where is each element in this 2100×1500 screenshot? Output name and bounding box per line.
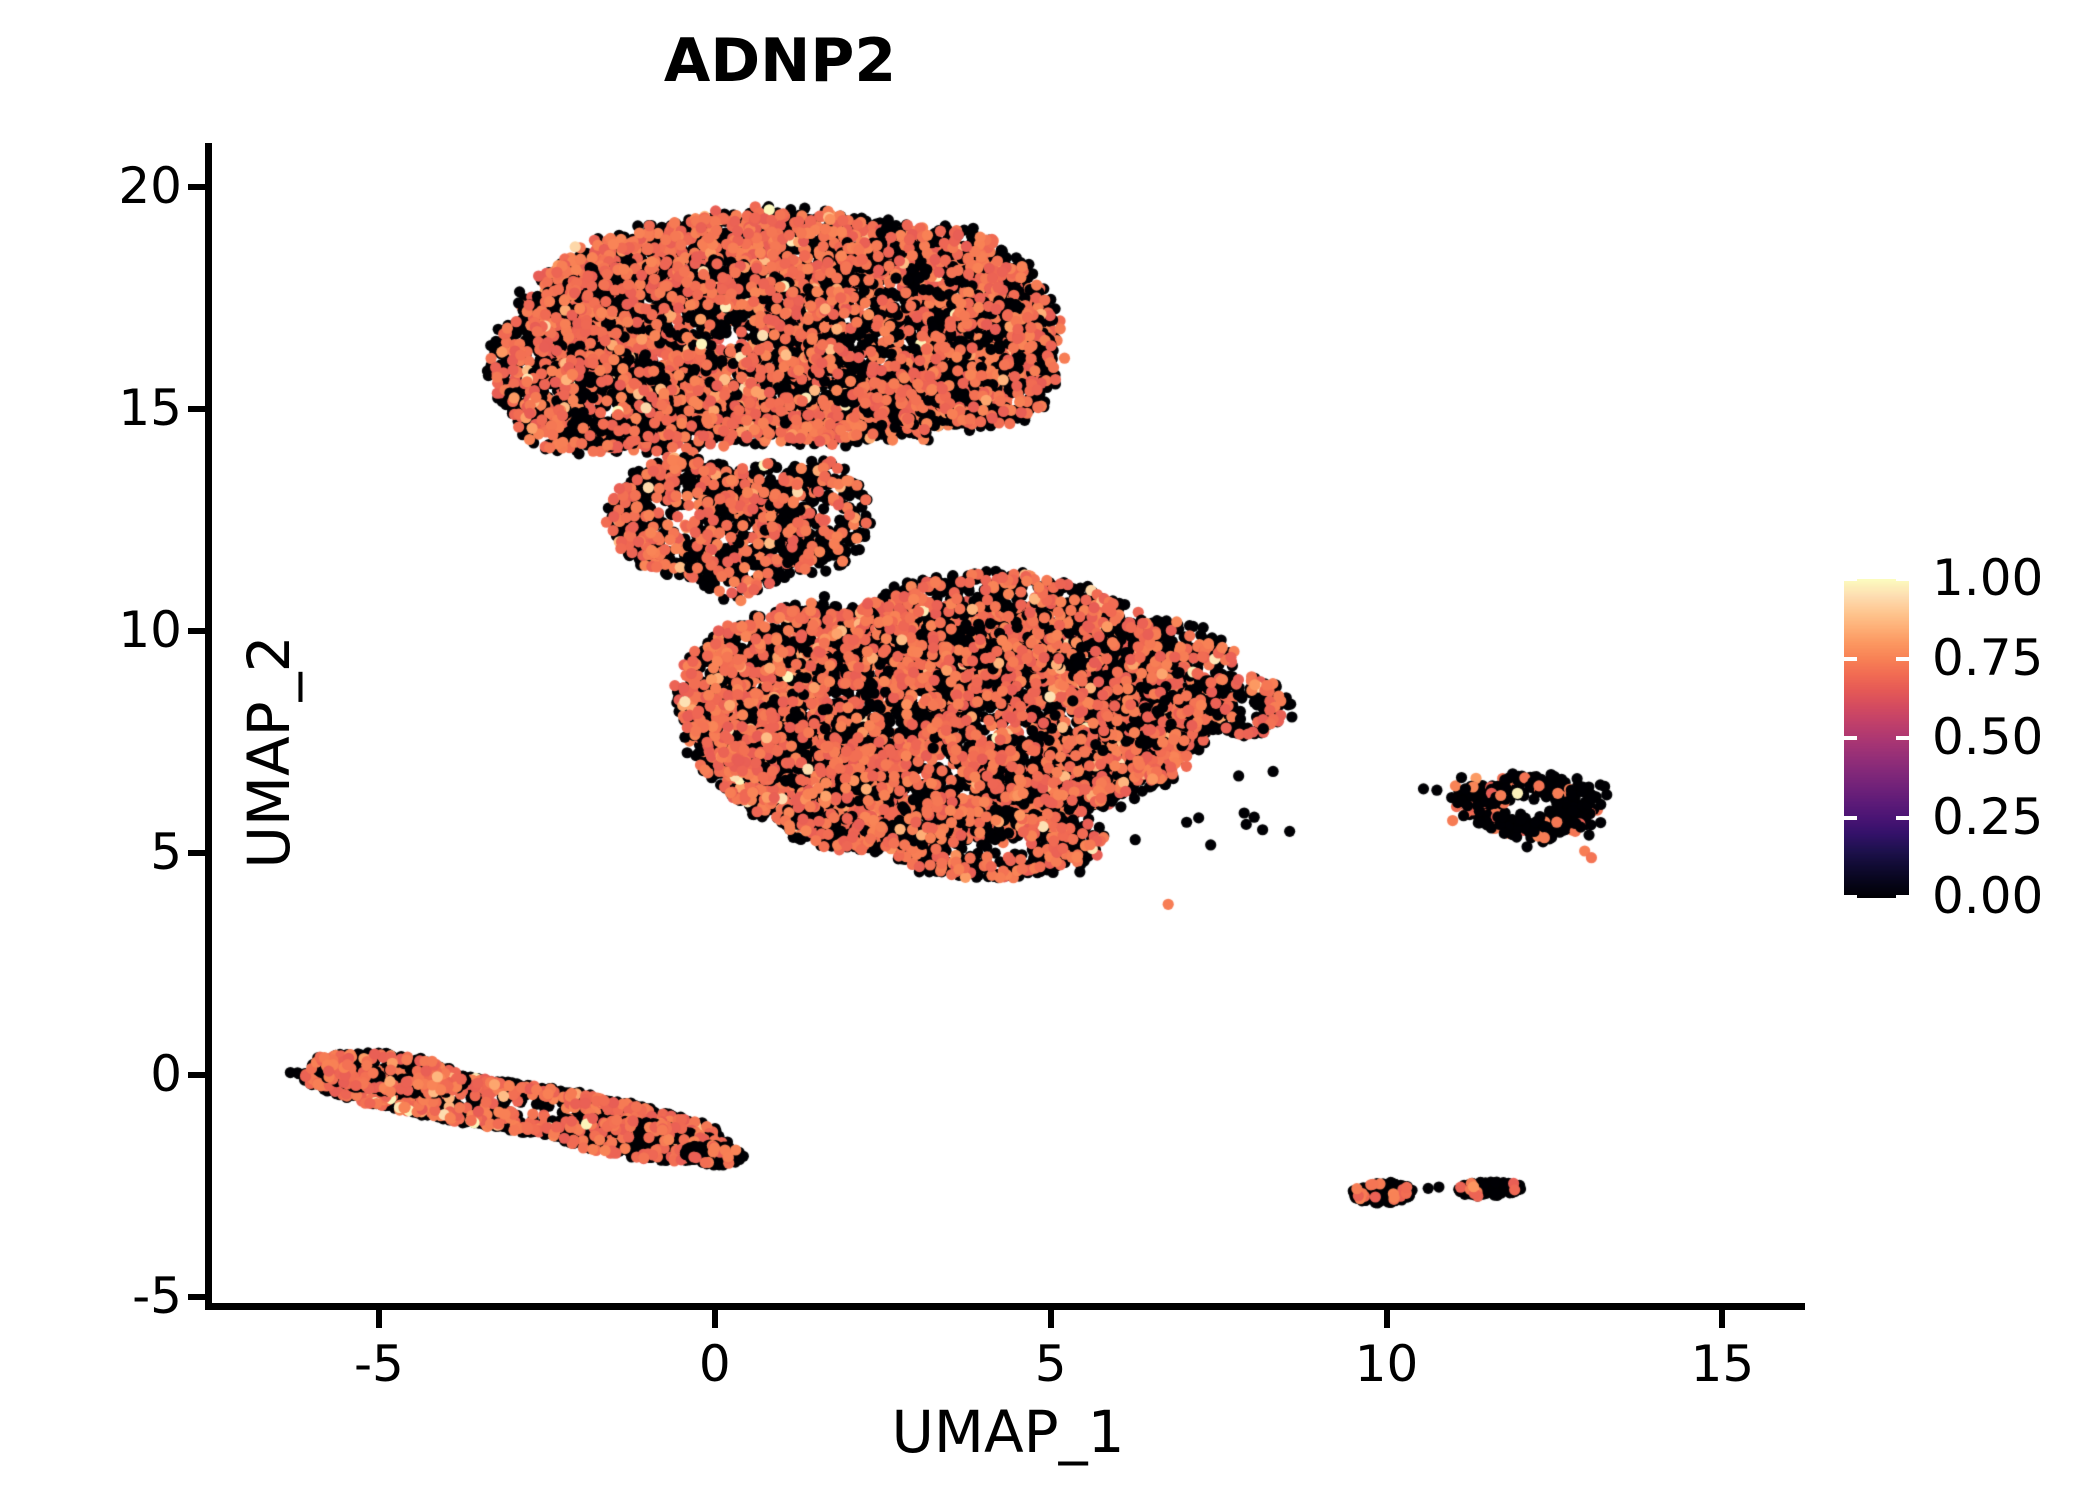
colorbar-tick-mark <box>1896 577 1909 581</box>
y-tick-mark <box>188 1072 206 1078</box>
x-tick-mark <box>1719 1310 1725 1328</box>
colorbar-tick-label: 0.25 <box>1932 792 2043 842</box>
y-tick-label: 5 <box>150 827 182 877</box>
y-tick-label: 15 <box>118 383 182 433</box>
x-tick-label: 0 <box>615 1336 815 1392</box>
plot-area[interactable] <box>211 143 1803 1306</box>
colorbar-tick-mark <box>1844 577 1857 581</box>
umap-feature-plot: ADNP2 -505101520 -5051015 UMAP_1 UMAP_2 … <box>0 0 2100 1500</box>
colorbar-tick-mark <box>1896 816 1909 820</box>
y-tick-label: 0 <box>150 1049 182 1099</box>
x-tick-label: 5 <box>951 1336 1151 1392</box>
colorbar-tick-label: 0.50 <box>1932 712 2043 762</box>
y-tick-mark <box>188 1294 206 1300</box>
colorbar-tick-mark <box>1896 736 1909 740</box>
x-tick-mark <box>376 1310 382 1328</box>
x-axis-label: UMAP_1 <box>211 1398 1805 1466</box>
x-tick-label: 15 <box>1622 1336 1822 1392</box>
colorbar-tick-mark <box>1844 657 1857 661</box>
colorbar-tick-mark <box>1844 816 1857 820</box>
colorbar-tick-mark <box>1896 895 1909 899</box>
x-tick-label: 10 <box>1287 1336 1487 1392</box>
y-tick-label: 20 <box>118 161 182 211</box>
x-tick-mark <box>1048 1310 1054 1328</box>
scatter-canvas[interactable] <box>211 143 1803 1306</box>
y-axis-label: UMAP_2 <box>235 170 303 1334</box>
colorbar[interactable]: 1.000.750.500.250.00 <box>1844 579 2094 909</box>
colorbar-tick-label: 0.00 <box>1932 871 2043 921</box>
y-tick-label: -5 <box>132 1271 182 1321</box>
x-tick-mark <box>1384 1310 1390 1328</box>
y-tick-label: 10 <box>118 605 182 655</box>
page-title: ADNP2 <box>0 26 1560 96</box>
axis-spine-left <box>205 143 212 1310</box>
y-tick-mark <box>188 850 206 856</box>
colorbar-tick-mark <box>1844 895 1857 899</box>
y-tick-mark <box>188 184 206 190</box>
colorbar-tick-label: 0.75 <box>1932 633 2043 683</box>
colorbar-tick-label: 1.00 <box>1932 553 2043 603</box>
colorbar-tick-mark <box>1896 657 1909 661</box>
x-tick-mark <box>712 1310 718 1328</box>
y-tick-mark <box>188 406 206 412</box>
y-tick-mark <box>188 628 206 634</box>
colorbar-tick-mark <box>1844 736 1857 740</box>
x-tick-label: -5 <box>279 1336 479 1392</box>
axis-spine-bottom <box>205 1303 1805 1310</box>
